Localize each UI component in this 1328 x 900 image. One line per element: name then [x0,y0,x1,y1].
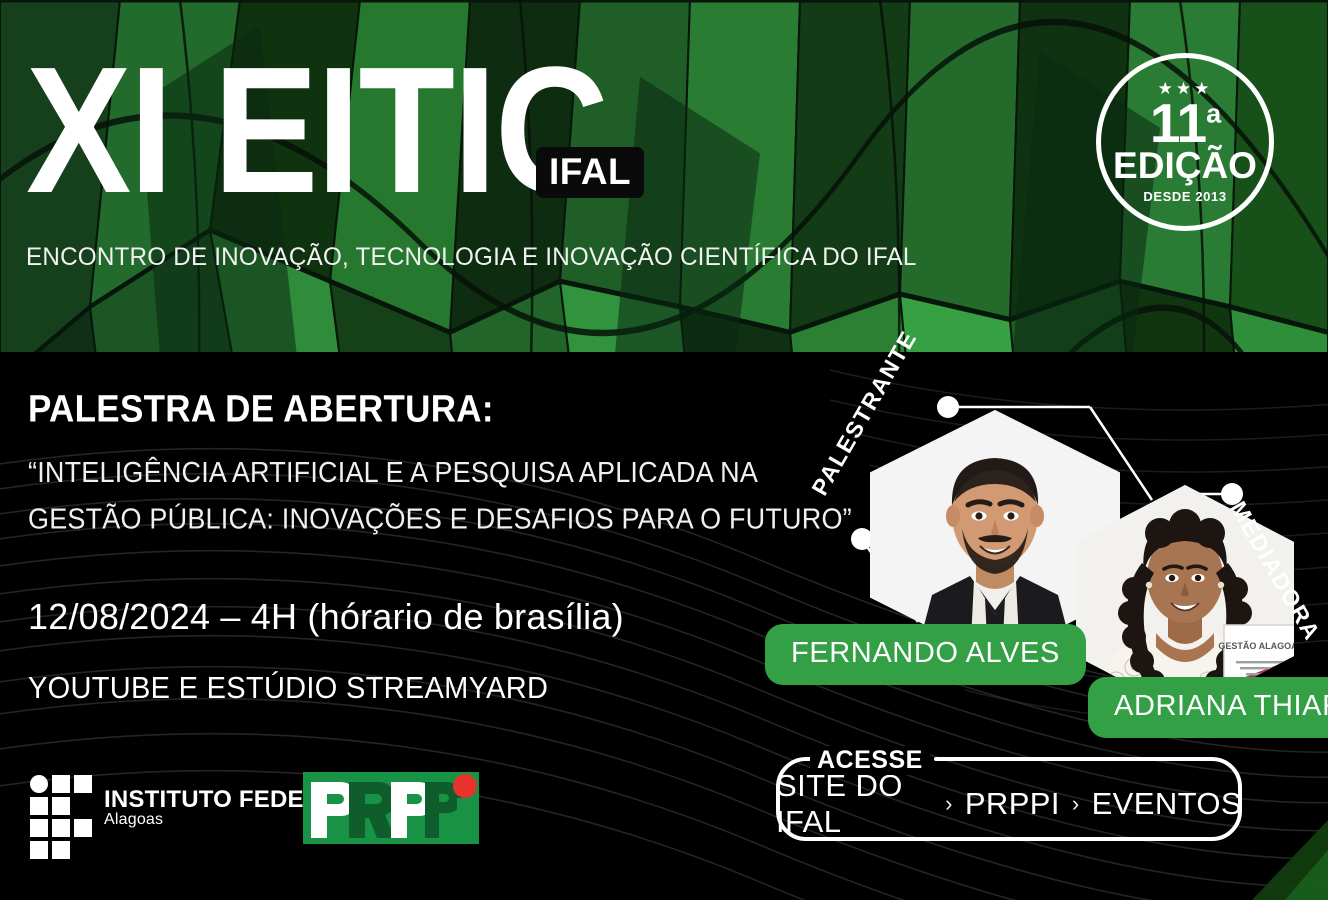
event-datetime: 12/08/2024 – 4H (hórario de brasília) [28,596,624,638]
breadcrumb-item-prppi[interactable]: PRPPI [965,786,1060,822]
speaker-name-pill-1: FERNANDO ALVES [765,624,1086,685]
speaker-name-pill-2: ADRIANA THIARA [1088,677,1328,738]
speakers-section: PALESTRANTE FERNANDO ALVES [800,372,1328,772]
prppi-red-dot [453,774,477,798]
access-label: ACESSE [810,746,930,775]
title-row: XI EITIC [26,45,607,197]
edition-number: 11a [1150,98,1220,149]
svg-text:GESTÃO ALAGOAS: GESTÃO ALAGOAS [1218,641,1294,651]
poster-header: XI EITIC IFAL ENCONTRO DE INOVAÇÃO, TECN… [0,0,1328,352]
prppi-logo-svg [303,766,479,850]
page-title: XI EITIC [26,45,607,218]
edition-word: EDIÇÃO [1113,147,1257,184]
lecture-title: “INTELIGÊNCIA ARTIFICIAL E A PESQUISA AP… [28,450,852,543]
chevron-right-icon-2: › [1072,791,1080,817]
chevron-right-icon-1: › [945,791,953,817]
access-box[interactable]: ACESSE SITE DO IFAL › PRPPI › EVENTOS [776,757,1242,841]
breadcrumb-item-eventos[interactable]: EVENTOS [1092,786,1242,822]
ifal-grid-icon [30,775,92,841]
ifal-title-badge: IFAL [536,147,644,198]
breadcrumb-item-site[interactable]: SITE DO IFAL [776,768,933,840]
edition-badge: ★★★ 11a EDIÇÃO DESDE 2013 [1096,53,1274,231]
event-platform: YOUTUBE E ESTÚDIO STREAMYARD [28,672,548,707]
event-subtitle: ENCONTRO DE INOVAÇÃO, TECNOLOGIA E INOVA… [26,243,917,272]
edition-since: DESDE 2013 [1143,189,1226,204]
event-poster: XI EITIC IFAL ENCONTRO DE INOVAÇÃO, TECN… [0,0,1328,900]
lecture-label: PALESTRA DE ABERTURA: [28,388,494,431]
prppi-logo [303,766,479,850]
lecture-title-line-1: “INTELIGÊNCIA ARTIFICIAL E A PESQUISA AP… [28,450,852,496]
lecture-title-line-2: GESTÃO PÚBLICA: INOVAÇÕES E DESAFIOS PAR… [28,496,852,542]
